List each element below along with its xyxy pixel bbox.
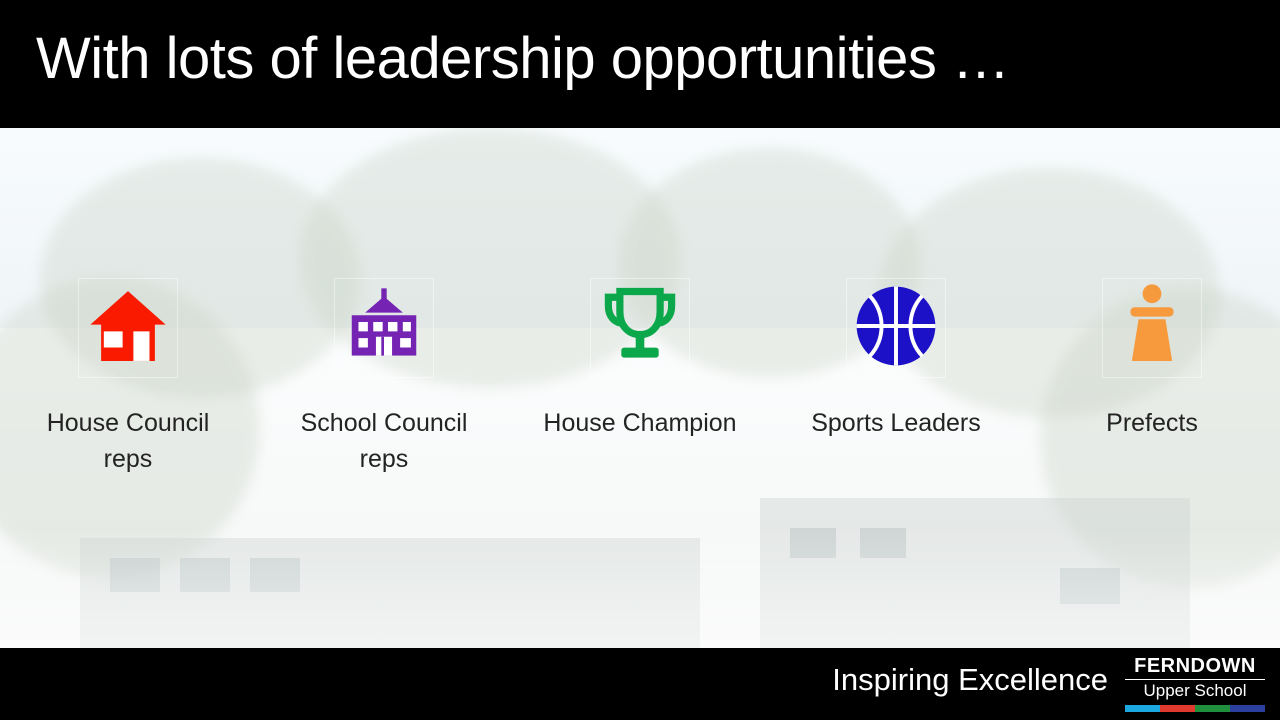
photo-haze xyxy=(0,528,1280,648)
item-sports-leaders: Sports Leaders xyxy=(768,278,1024,477)
speaker-podium-icon xyxy=(1109,283,1195,374)
slide-body: House Council reps xyxy=(0,128,1280,648)
logo-subtitle: Upper School xyxy=(1120,682,1270,701)
leadership-opportunities-row: House Council reps xyxy=(0,278,1280,477)
item-house-champion: House Champion xyxy=(512,278,768,477)
logo-divider xyxy=(1125,679,1265,680)
icon-frame xyxy=(846,278,946,378)
logo-bar-navy xyxy=(1230,705,1265,712)
house-icon xyxy=(85,283,171,374)
icon-frame xyxy=(590,278,690,378)
slide: With lots of leadership opportunities … xyxy=(0,0,1280,720)
trophy-icon xyxy=(594,280,686,377)
item-school-council-reps: School Council reps xyxy=(256,278,512,477)
logo-bar-blue xyxy=(1125,705,1160,712)
basketball-icon xyxy=(854,284,938,373)
title-bar: With lots of leadership opportunities … xyxy=(0,0,1280,128)
item-label: Sports Leaders xyxy=(791,406,1001,442)
page-title: With lots of leadership opportunities … xyxy=(36,26,1009,93)
icon-frame xyxy=(1102,278,1202,378)
item-house-council-reps: House Council reps xyxy=(0,278,256,477)
school-logo: FERNDOWN Upper School xyxy=(1120,656,1270,712)
item-label: House Council reps xyxy=(23,406,233,477)
icon-frame xyxy=(334,278,434,378)
school-icon xyxy=(341,283,427,374)
icon-frame xyxy=(78,278,178,378)
item-label: House Champion xyxy=(535,406,745,442)
logo-bar-green xyxy=(1195,705,1230,712)
footer-bar: Inspiring Excellence FERNDOWN Upper Scho… xyxy=(0,648,1280,720)
item-prefects: Prefects xyxy=(1024,278,1280,477)
logo-name: FERNDOWN xyxy=(1120,656,1270,677)
logo-bar-red xyxy=(1160,705,1195,712)
logo-color-bars xyxy=(1125,705,1265,712)
strapline: Inspiring Excellence xyxy=(832,662,1108,698)
item-label: Prefects xyxy=(1047,406,1257,442)
item-label: School Council reps xyxy=(279,406,489,477)
